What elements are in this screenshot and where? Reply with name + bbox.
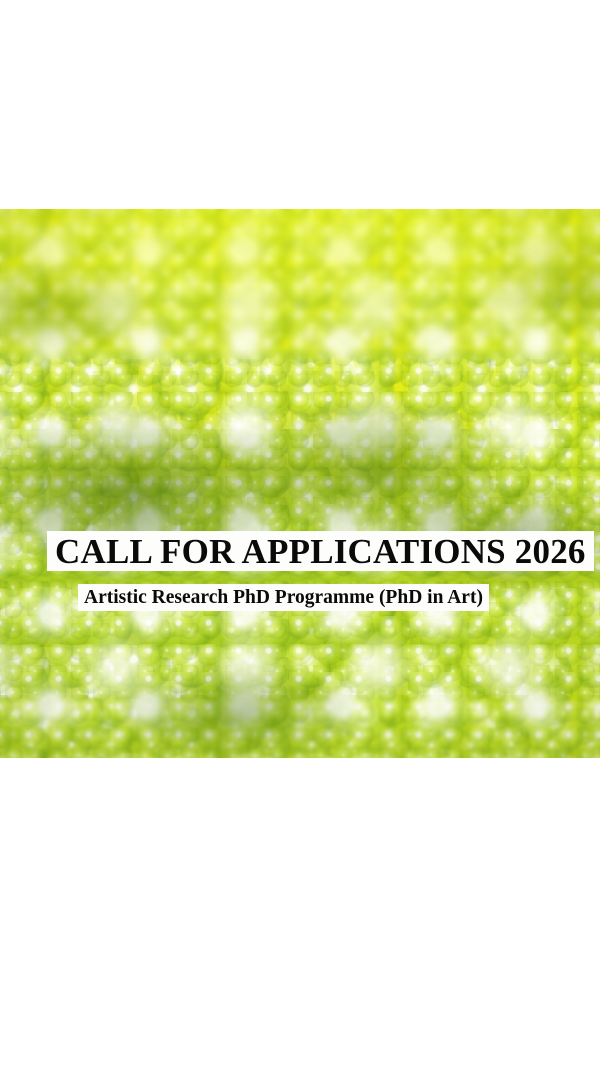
poster-headline: CALL FOR APPLICATIONS 2026 [47,531,594,571]
poster-subheadline: Artistic Research PhD Programme (PhD in … [78,584,489,611]
poster-image: CALL FOR APPLICATIONS 2026 Artistic Rese… [0,209,600,758]
poster-text-layer: CALL FOR APPLICATIONS 2026 Artistic Rese… [0,209,600,758]
